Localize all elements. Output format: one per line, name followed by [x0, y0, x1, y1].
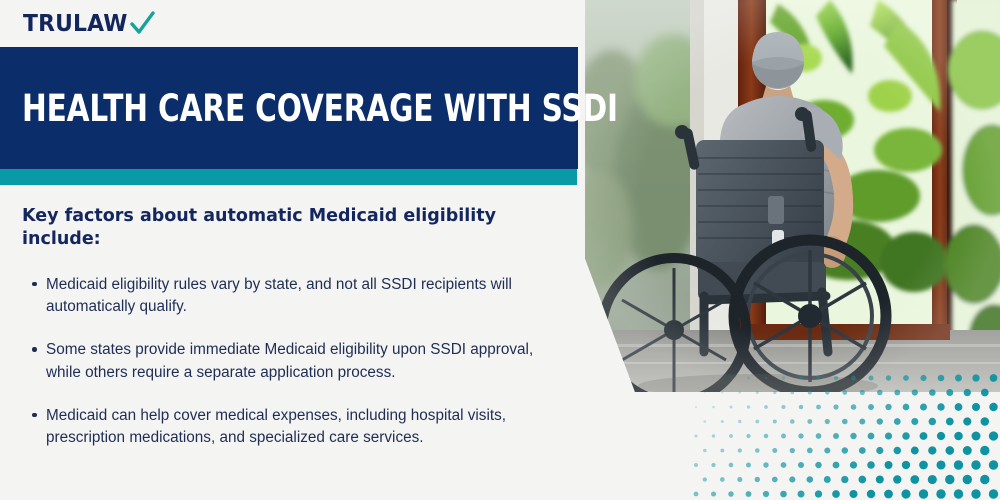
bullet-dot-icon — [32, 413, 37, 418]
halftone-dot-gradient — [690, 372, 1000, 500]
infographic-card: TRULAW HEALTH CARE COVERAGE WITH SSDI Ke… — [0, 0, 1000, 500]
trulaw-logo[interactable]: TRULAW — [23, 8, 155, 40]
content-block: Key factors about automatic Medicaid eli… — [22, 205, 542, 450]
title-banner: HEALTH CARE COVERAGE WITH SSDI — [0, 47, 578, 169]
list-item: Medicaid eligibility rules vary by state… — [22, 274, 542, 319]
teal-accent-bar — [0, 169, 577, 185]
teal-check-icon — [129, 11, 155, 37]
hero-photo — [578, 0, 1000, 392]
wheelchair-user-photo — [578, 0, 1000, 392]
bullet-dot-icon — [32, 347, 37, 352]
list-item-text: Some states provide immediate Medicaid e… — [46, 341, 533, 380]
list-item: Medicaid can help cover medical expenses… — [22, 405, 542, 450]
key-factors-list: Medicaid eligibility rules vary by state… — [22, 274, 542, 450]
list-item-text: Medicaid can help cover medical expenses… — [46, 407, 506, 446]
bullet-dot-icon — [32, 282, 37, 287]
list-item: Some states provide immediate Medicaid e… — [22, 339, 542, 384]
page-title: HEALTH CARE COVERAGE WITH SSDI — [22, 90, 618, 127]
lead-heading: Key factors about automatic Medicaid eli… — [22, 205, 542, 252]
logo-wordmark: TRULAW — [23, 11, 128, 37]
list-item-text: Medicaid eligibility rules vary by state… — [46, 276, 512, 315]
